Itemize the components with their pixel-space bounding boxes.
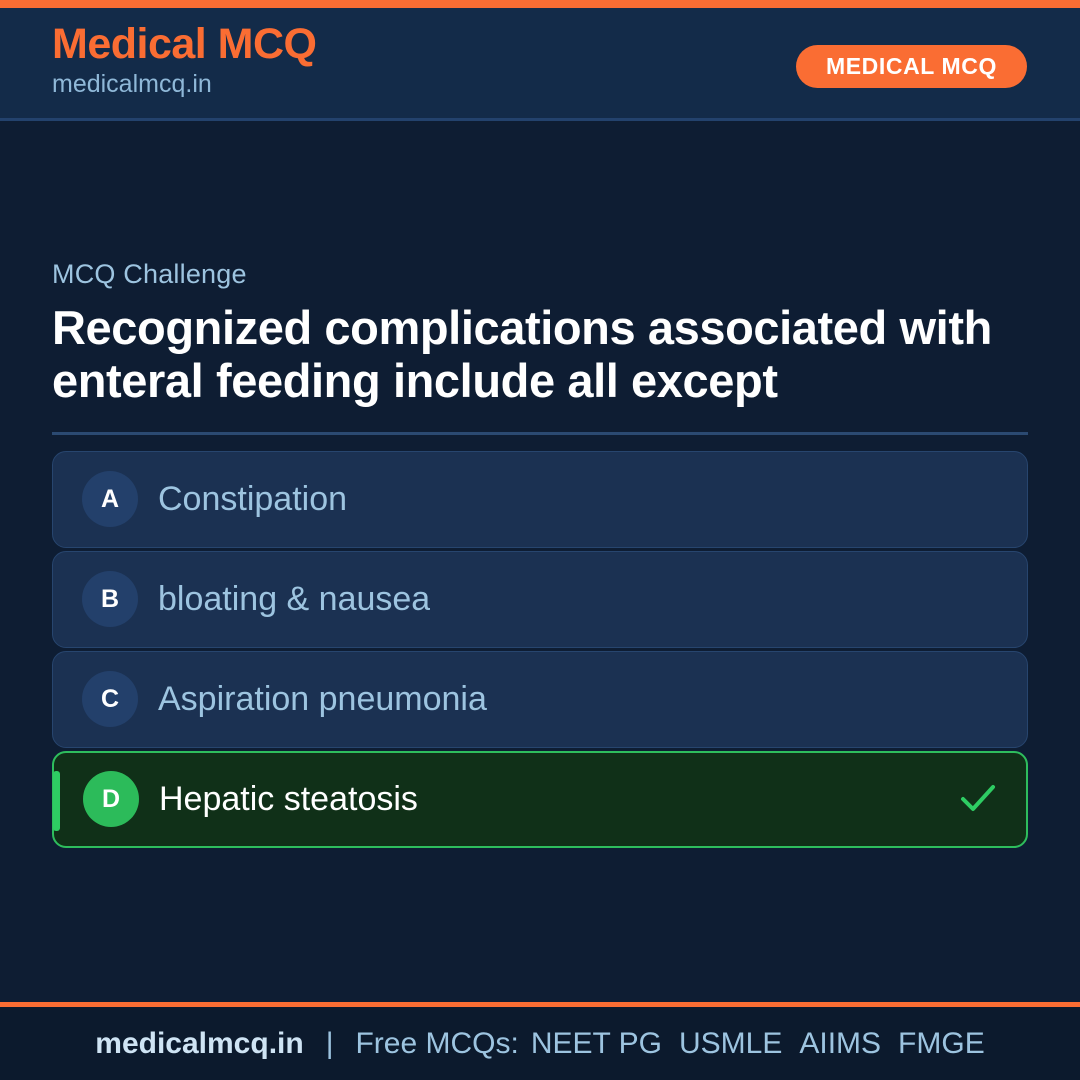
option-label: Constipation	[158, 479, 347, 520]
option-label: bloating & nausea	[158, 579, 430, 620]
footer-content: medicalmcq.in | Free MCQs: NEET PG USMLE…	[95, 1027, 984, 1061]
option-row-a[interactable]: A Constipation	[52, 451, 1028, 548]
page-header: Medical MCQ medicalmcq.in MEDICAL MCQ	[0, 8, 1080, 121]
footer-site-link[interactable]: medicalmcq.in	[95, 1027, 303, 1061]
brand-title: Medical MCQ	[52, 22, 317, 67]
eyebrow-label: MCQ Challenge	[52, 258, 1028, 290]
check-icon	[958, 779, 998, 819]
footer-exam-neet-pg[interactable]: NEET PG	[531, 1027, 662, 1061]
brand-block: Medical MCQ medicalmcq.in	[52, 22, 317, 97]
footer-exam-usmle[interactable]: USMLE	[679, 1027, 782, 1061]
option-letter-badge: B	[82, 571, 138, 627]
options-list: A Constipation B bloating & nausea C Asp…	[52, 451, 1028, 848]
page-footer: medicalmcq.in | Free MCQs: NEET PG USMLE…	[0, 1007, 1080, 1080]
correct-accent-bar	[53, 771, 60, 831]
option-label: Hepatic steatosis	[159, 779, 418, 820]
question-divider	[52, 432, 1028, 435]
footer-exam-fmge[interactable]: FMGE	[898, 1027, 985, 1061]
footer-label: Free MCQs:	[355, 1027, 518, 1061]
footer-exam-aiims[interactable]: AIIMS	[799, 1027, 881, 1061]
option-letter-badge: A	[82, 471, 138, 527]
option-label: Aspiration pneumonia	[158, 679, 487, 720]
header-badge: MEDICAL MCQ	[796, 45, 1027, 88]
option-row-d[interactable]: D Hepatic steatosis	[52, 751, 1028, 848]
option-row-c[interactable]: C Aspiration pneumonia	[52, 651, 1028, 748]
top-accent-bar	[0, 0, 1080, 8]
question-text: Recognized complications associated with…	[52, 302, 1028, 407]
option-letter-badge: C	[82, 671, 138, 727]
main-content: MCQ Challenge Recognized complications a…	[52, 258, 1028, 851]
brand-subtitle: medicalmcq.in	[52, 71, 317, 97]
option-letter-badge: D	[83, 771, 139, 827]
option-row-b[interactable]: B bloating & nausea	[52, 551, 1028, 648]
footer-separator: |	[326, 1027, 334, 1061]
